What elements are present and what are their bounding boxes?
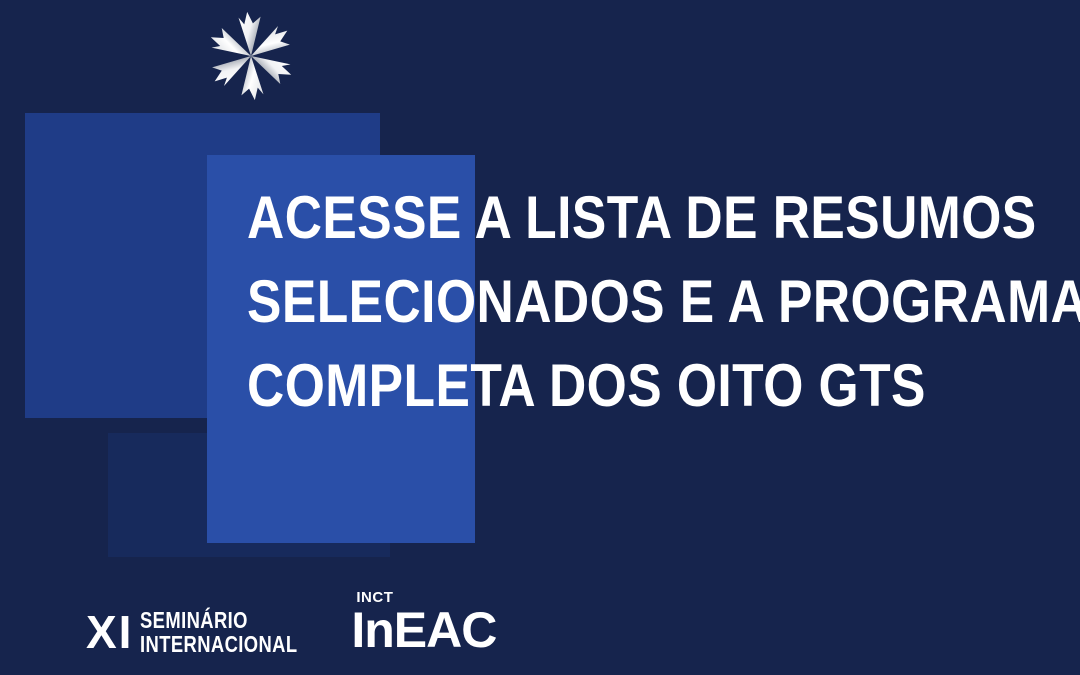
- seminar-logo-line-1: SEMINÁRIO: [140, 608, 298, 632]
- ineac-superscript: INCT: [356, 590, 393, 605]
- headline-line-2: SELECIONADOS E A PROGRAMAÇÃO: [247, 260, 935, 344]
- slide-canvas: ACESSE A LISTA DE RESUMOS SELECIONADOS E…: [0, 0, 1080, 675]
- ineac-logo: INCT InEAC: [351, 592, 496, 656]
- seminar-logo-text: SEMINÁRIO INTERNACIONAL: [140, 608, 298, 656]
- slide-headline: ACESSE A LISTA DE RESUMOS SELECIONADOS E…: [247, 176, 935, 428]
- headline-line-3: COMPLETA DOS OITO GTS: [247, 344, 935, 428]
- seminar-logo-line-2: INTERNACIONAL: [140, 632, 298, 656]
- pinwheel-star-icon: [203, 8, 299, 104]
- seminar-roman-numeral: XI: [86, 609, 133, 655]
- footer-logo-lockup: XI SEMINÁRIO INTERNACIONAL INCT InEAC: [86, 592, 496, 656]
- headline-line-1: ACESSE A LISTA DE RESUMOS: [247, 176, 935, 260]
- seminar-logo: XI SEMINÁRIO INTERNACIONAL: [86, 608, 337, 656]
